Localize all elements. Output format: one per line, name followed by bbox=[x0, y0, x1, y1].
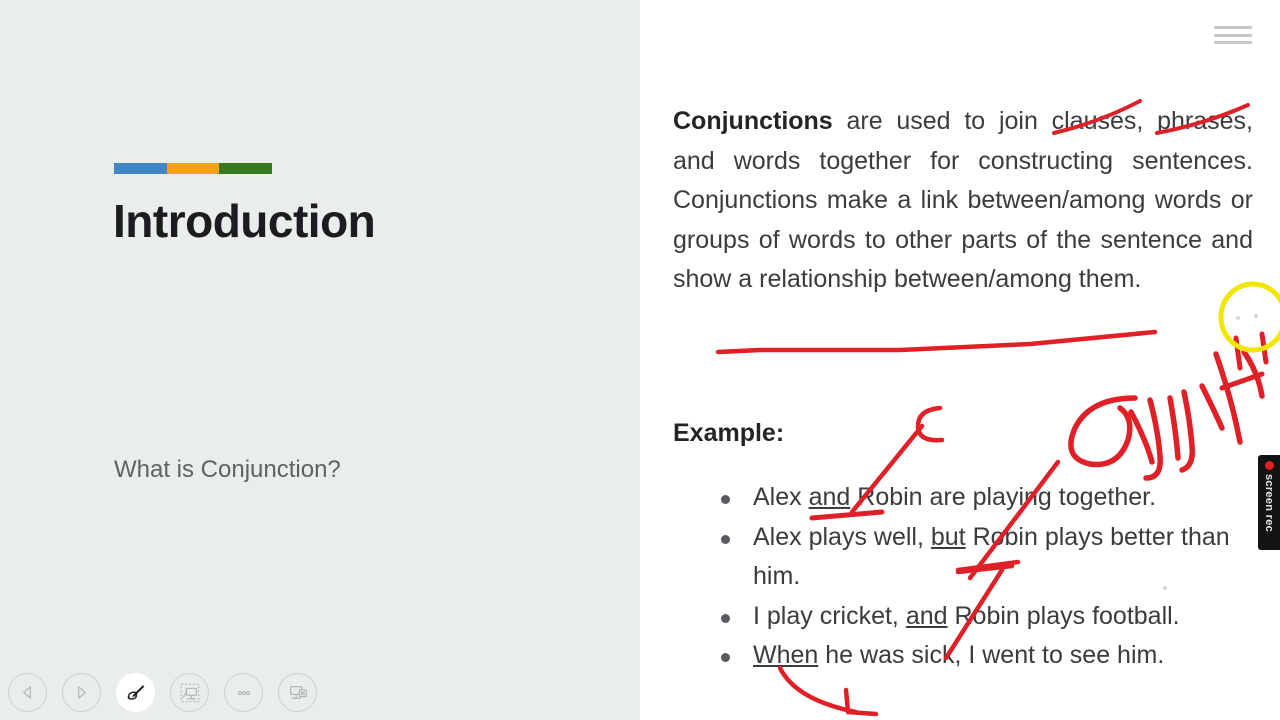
bullet-text-post: Robin plays football. bbox=[948, 602, 1180, 630]
list-item: I play cricket, and Robin plays football… bbox=[712, 597, 1272, 637]
bullet-conjunction-word: When bbox=[753, 641, 818, 669]
example-heading: Example: bbox=[673, 419, 784, 448]
accent-segment-orange bbox=[167, 163, 220, 174]
screenrec-label: screen rec bbox=[1263, 474, 1275, 532]
end-show-button[interactable] bbox=[278, 673, 317, 712]
accent-segment-green bbox=[219, 163, 272, 174]
list-item: When he was sick, I went to see him. bbox=[712, 636, 1272, 676]
screenrec-watermark: screen rec bbox=[1258, 455, 1280, 550]
slide-projector-icon bbox=[179, 682, 201, 704]
bullet-text-pre: Alex plays well, bbox=[753, 523, 931, 551]
slide-title: Introduction bbox=[113, 196, 375, 247]
bullet-conjunction-word: but bbox=[931, 523, 966, 551]
bullet-conjunction-word: and bbox=[809, 483, 851, 511]
bullet-text-post: he was sick, I went to see him. bbox=[818, 641, 1164, 669]
hamburger-line bbox=[1214, 26, 1252, 29]
slide-view-button[interactable] bbox=[170, 673, 209, 712]
hamburger-menu-icon[interactable] bbox=[1214, 26, 1252, 44]
slide-left-panel: Introduction What is Conjunction? bbox=[0, 0, 640, 720]
previous-slide-button[interactable] bbox=[8, 673, 47, 712]
next-slide-button[interactable] bbox=[62, 673, 101, 712]
pen-icon bbox=[125, 682, 147, 704]
hamburger-line bbox=[1214, 34, 1252, 37]
bullet-text-pre: Alex bbox=[753, 483, 809, 511]
triangle-right-icon bbox=[74, 685, 89, 700]
accent-color-bar bbox=[114, 163, 272, 174]
bullet-text-pre: I play cricket, bbox=[753, 602, 906, 630]
list-item: Alex and Robin are playing together. bbox=[712, 478, 1272, 518]
bullet-conjunction-word: and bbox=[906, 602, 948, 630]
definition-paragraph: Conjunctions are used to join clauses, p… bbox=[673, 102, 1253, 300]
triangle-left-icon bbox=[20, 685, 35, 700]
more-options-button[interactable] bbox=[224, 673, 263, 712]
slideshow-toolbar bbox=[8, 673, 317, 712]
list-item: Alex plays well, but Robin plays better … bbox=[712, 518, 1272, 597]
hamburger-line bbox=[1214, 41, 1252, 44]
ellipsis-icon bbox=[234, 683, 254, 703]
slide-right-panel: Conjunctions are used to join clauses, p… bbox=[640, 0, 1280, 720]
presentation-stage: Introduction What is Conjunction? Conjun… bbox=[0, 0, 1280, 720]
recording-dot-icon bbox=[1265, 461, 1274, 470]
monitor-close-icon bbox=[287, 682, 309, 704]
slide-subtitle: What is Conjunction? bbox=[114, 456, 341, 484]
bullet-text-post: Robin are playing together. bbox=[850, 483, 1156, 511]
pen-tool-button[interactable] bbox=[116, 673, 155, 712]
example-bullet-list: Alex and Robin are playing together. Ale… bbox=[712, 478, 1272, 676]
definition-lead-word: Conjunctions bbox=[673, 107, 833, 135]
accent-segment-blue bbox=[114, 163, 167, 174]
